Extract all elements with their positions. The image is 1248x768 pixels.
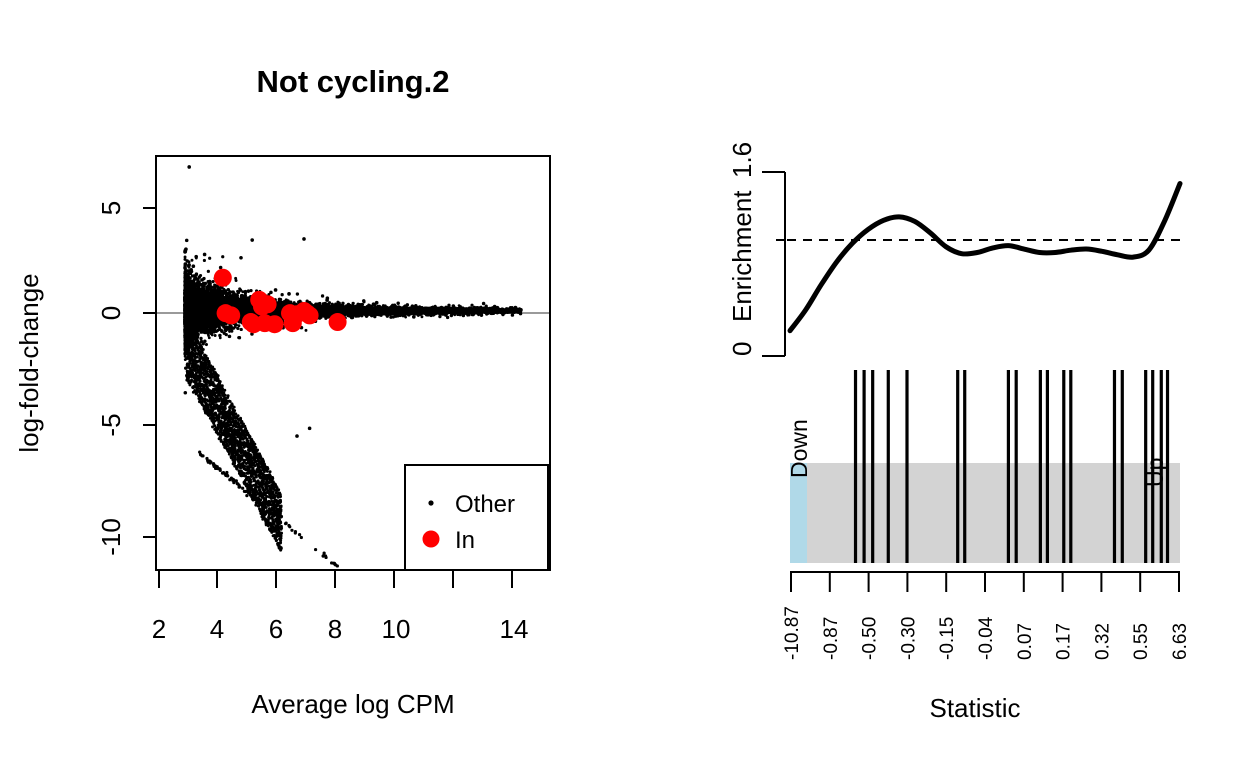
statistic-tick-label: -0.50 <box>860 617 881 660</box>
ma-x-tick-8: 8 <box>328 614 342 644</box>
legend-other-label: Other <box>455 491 515 518</box>
ma-y-tick-0: 0 <box>96 306 126 320</box>
legend-in-marker-icon <box>423 531 440 548</box>
statistic-tick-label: -0.87 <box>821 617 842 660</box>
ma-y-tick-neg10: -10 <box>96 518 126 556</box>
statistic-axis-title: Statistic <box>929 693 1020 723</box>
barcode-down-label: Down <box>786 419 812 478</box>
statistic-tick-label: 0.32 <box>1092 623 1113 660</box>
legend-other-marker-icon <box>428 500 433 505</box>
ma-y-tick-neg5: -5 <box>96 413 126 436</box>
statistic-tick-label: -0.15 <box>937 617 958 660</box>
ma-y-axis-title: log-fold-change <box>14 273 44 452</box>
figure-root: Not cycling.2 5 0 -5 -10 log-fold-change <box>0 0 1248 768</box>
ma-x-tick-10: 10 <box>382 614 411 644</box>
figure-canvas: Not cycling.2 5 0 -5 -10 log-fold-change <box>0 0 1248 768</box>
statistic-tick-label: -0.04 <box>976 616 997 660</box>
ma-x-axis-title: Average log CPM <box>251 689 454 719</box>
enrichment-tick-max: 1.6 <box>727 142 757 178</box>
statistic-tick-label: 0.17 <box>1054 623 1075 660</box>
ma-x-tick-6: 6 <box>269 614 283 644</box>
statistic-tick-label: 0.55 <box>1131 623 1152 660</box>
ma-x-tick-2: 2 <box>152 614 166 644</box>
statistic-tick-label: -10.87 <box>782 606 803 660</box>
enrichment-tick-min: 0 <box>727 342 757 356</box>
enrichment-axis-title: Enrichment <box>727 190 757 322</box>
figure-title: Not cycling.2 <box>257 64 450 99</box>
statistic-tick-label: 6.63 <box>1170 623 1191 660</box>
ma-y-tick-5: 5 <box>96 201 126 215</box>
barcode-up-label: Up <box>1142 458 1168 487</box>
statistic-tick-label: 0.07 <box>1015 623 1036 660</box>
legend-in-label: In <box>455 527 475 554</box>
statistic-tick-label: -0.30 <box>898 617 919 660</box>
ma-x-tick-14: 14 <box>500 614 529 644</box>
ma-x-tick-4: 4 <box>210 614 224 644</box>
